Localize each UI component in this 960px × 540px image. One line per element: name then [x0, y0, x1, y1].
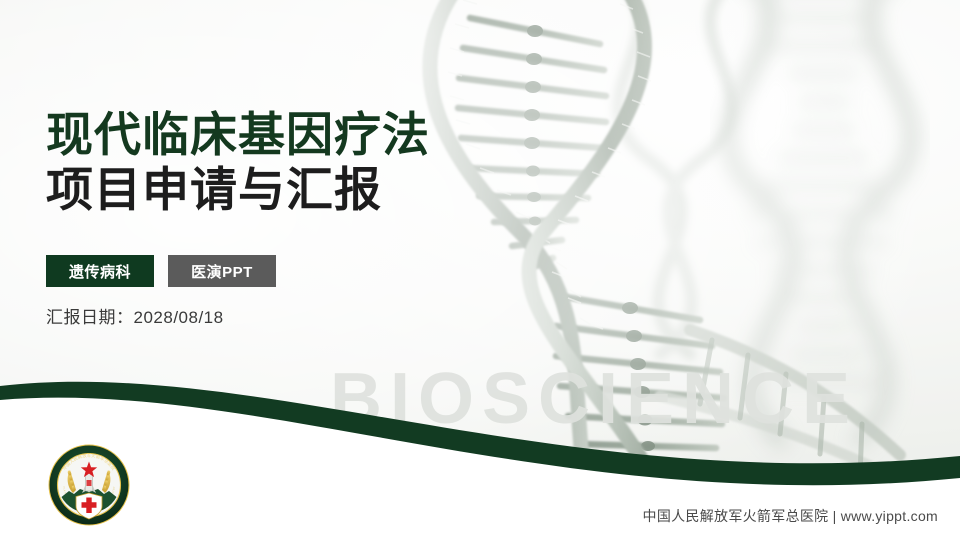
- presentation-cover-slide: BIOSCIENCE 现代临床基因疗法 项目申请与汇报 遗传病科 医演PPT 汇…: [0, 0, 960, 540]
- badge-department[interactable]: 遗传病科: [46, 255, 154, 287]
- report-date: 汇报日期：2028/08/18: [46, 303, 224, 328]
- footer-credit: 中国人民解放军火箭军总医院 | www.yippt.com: [643, 506, 938, 526]
- page-title: 现代临床基因疗法 项目申请与汇报: [46, 108, 430, 217]
- title-line-2: 项目申请与汇报: [46, 163, 430, 218]
- hospital-emblem-icon: 中国人民解放军火箭军总医院 PLA ROCKET FORCE CHARACTER…: [47, 443, 131, 527]
- badge-template-brand[interactable]: 医演PPT: [168, 255, 276, 287]
- title-line-1: 现代临床基因疗法: [46, 108, 430, 163]
- badge-group: 遗传病科 医演PPT: [46, 255, 276, 287]
